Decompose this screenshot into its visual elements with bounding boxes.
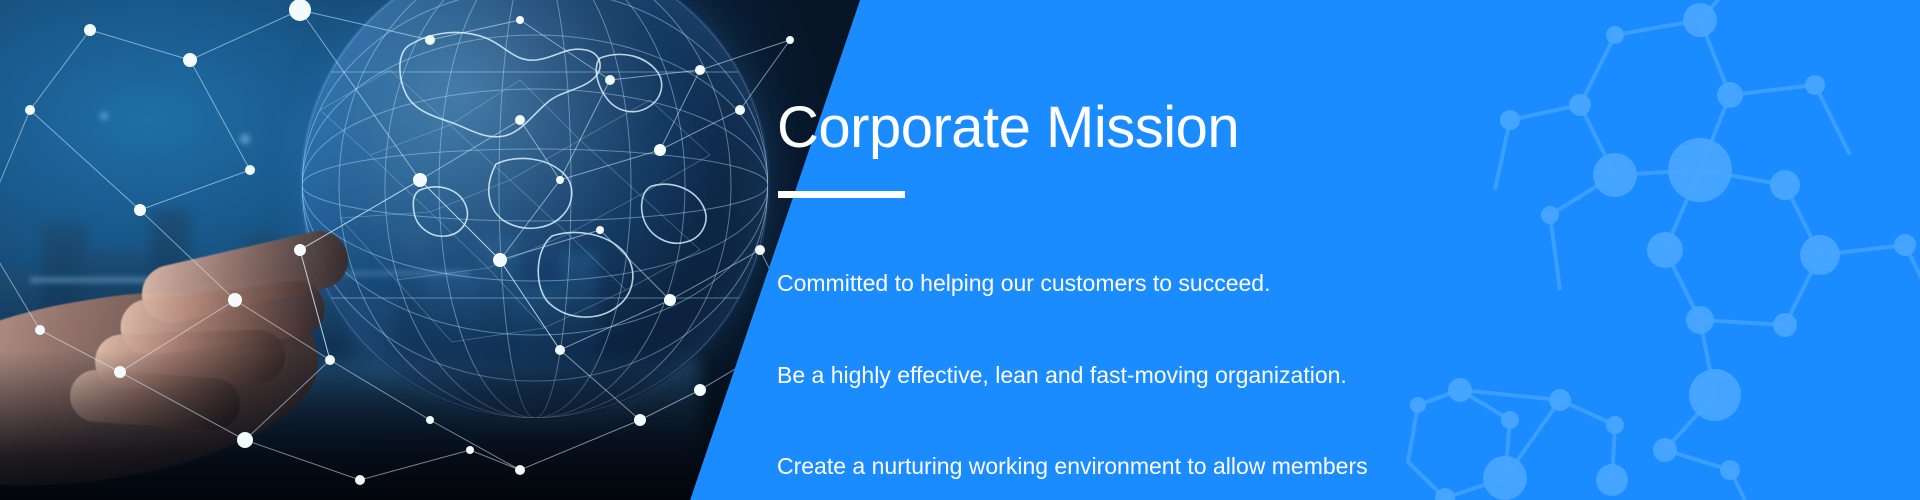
network-overlay (0, 0, 860, 500)
page-title: Corporate Mission (777, 96, 1239, 160)
corporate-mission-banner: Corporate Mission Committed to helping o… (0, 0, 1920, 500)
banner-content: Corporate Mission Committed to helping o… (777, 0, 1777, 500)
mission-line-2: Be a highly effective, lean and fast-mov… (777, 360, 1368, 391)
hero-photo-panel (0, 0, 860, 500)
globe-network-photo (0, 0, 860, 500)
title-divider (778, 191, 905, 198)
mission-line-1: Committed to helping our customers to su… (777, 268, 1368, 299)
mission-statement: Committed to helping our customers to su… (777, 207, 1368, 500)
mission-line-3: Create a nurturing working environment t… (777, 451, 1368, 482)
